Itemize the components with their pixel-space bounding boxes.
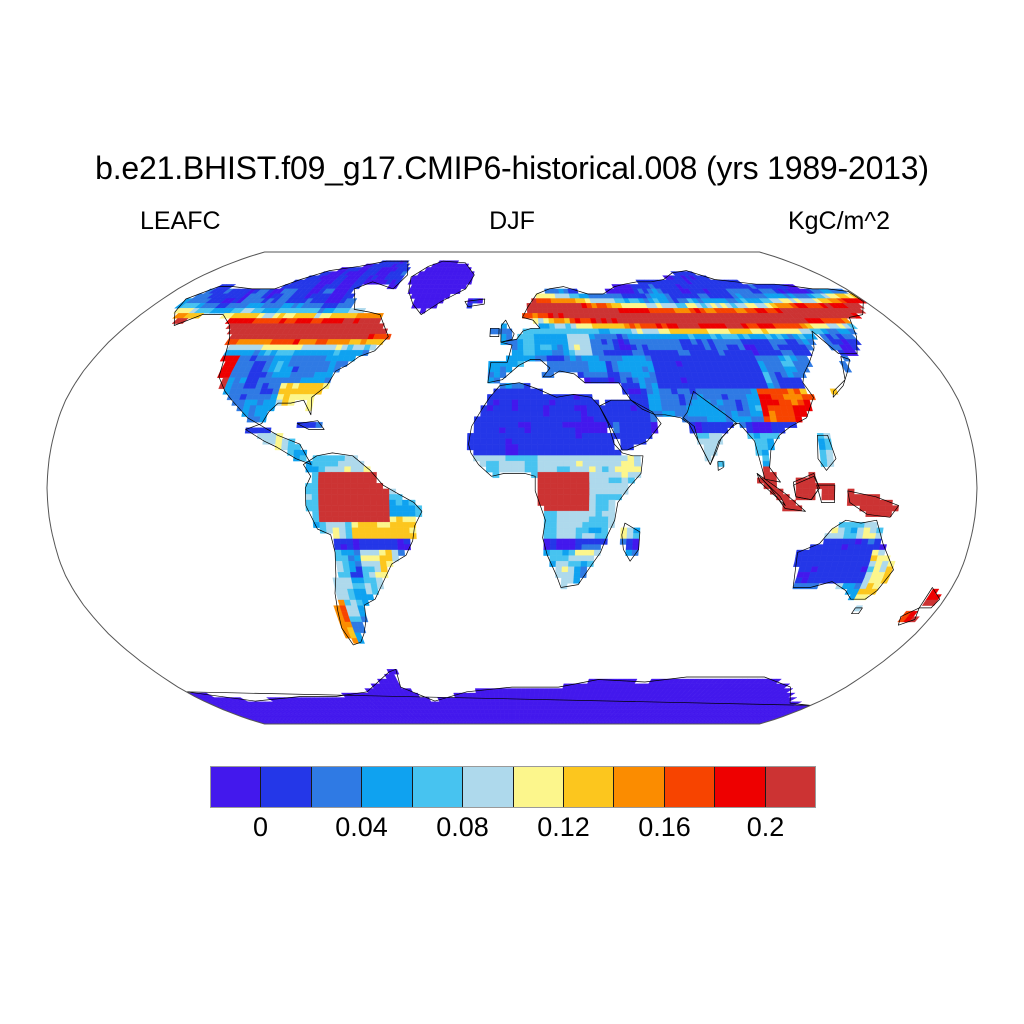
colorbar-cell-pale-yellow[interactable] xyxy=(514,767,564,807)
map-canvas xyxy=(32,238,992,738)
data-grid-cells xyxy=(172,261,942,724)
colorbar-cell-sky-blue[interactable] xyxy=(413,767,463,807)
colorbar-cell-blue[interactable] xyxy=(261,767,311,807)
colorbar-cell-medium-blue[interactable] xyxy=(312,767,362,807)
colorbar-tick-5: 0.2 xyxy=(747,812,785,843)
units-label: KgC/m^2 xyxy=(0,207,1024,236)
colorbar-cell-pale-blue[interactable] xyxy=(463,767,513,807)
colorbar-tick-1: 0.04 xyxy=(335,812,388,843)
colorbar-tick-labels: 00.040.080.120.160.2 xyxy=(210,812,816,846)
colorbar-cell-orange[interactable] xyxy=(614,767,664,807)
colorbar-cell-golden-yellow[interactable] xyxy=(564,767,614,807)
colorbar-tick-4: 0.16 xyxy=(638,812,691,843)
colorbar-cell-brick-red[interactable] xyxy=(766,767,815,807)
colorbar-tick-0: 0 xyxy=(253,812,268,843)
colorbar-cell-red[interactable] xyxy=(715,767,765,807)
colorbar-tick-3: 0.12 xyxy=(537,812,590,843)
colorbar-cell-violet-blue[interactable] xyxy=(211,767,261,807)
colorbar-tick-2: 0.08 xyxy=(436,812,489,843)
page-title: b.e21.BHIST.f09_g17.CMIP6-historical.008… xyxy=(0,150,1024,187)
climate-map-figure: b.e21.BHIST.f09_g17.CMIP6-historical.008… xyxy=(0,0,1024,1024)
colorbar-cell-orange-red[interactable] xyxy=(665,767,715,807)
colorbar[interactable] xyxy=(210,766,816,808)
colorbar-cell-azure[interactable] xyxy=(362,767,412,807)
world-map xyxy=(32,238,992,738)
